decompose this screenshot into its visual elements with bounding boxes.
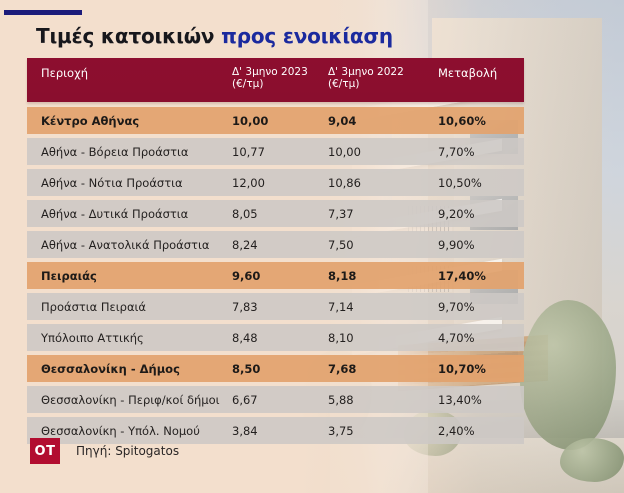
row-cell-q2023: 9,60	[232, 269, 328, 283]
row-cell-q2022: 3,75	[328, 424, 424, 438]
accent-rule	[4, 10, 82, 15]
table-row: Υπόλοιπο Αττικής8,488,104,70%	[27, 324, 524, 351]
row-cell-change: 10,50%	[424, 176, 524, 190]
page-title-plain: Τιμές κατοικιών	[36, 24, 221, 48]
table-row: Πειραιάς9,608,1817,40%	[27, 262, 524, 289]
row-cell-area: Υπόλοιπο Αττικής	[27, 331, 232, 345]
table-header-row: Περιοχή Δ' 3μηνο 2023 (€/τμ) Δ' 3μηνο 20…	[27, 58, 524, 102]
table-row: Κέντρο Αθήνας10,009,0410,60%	[27, 107, 524, 134]
row-cell-area: Αθήνα - Νότια Προάστια	[27, 176, 232, 190]
source-text: Πηγή: Spitogatos	[76, 444, 179, 458]
row-cell-change: 10,70%	[424, 362, 524, 376]
row-cell-area: Θεσσαλονίκη - Υπόλ. Νομού	[27, 424, 232, 438]
column-header-q2022: Δ' 3μηνο 2022 (€/τμ)	[328, 58, 424, 90]
table-body: Κέντρο Αθήνας10,009,0410,60%Αθήνα - Βόρε…	[27, 107, 524, 444]
row-cell-area: Κέντρο Αθήνας	[27, 114, 232, 128]
row-cell-q2022: 10,86	[328, 176, 424, 190]
ot-logo: OT	[30, 438, 60, 464]
column-header-change: Μεταβολή	[424, 58, 524, 80]
column-header-q2023-line2: (€/τμ)	[232, 78, 328, 90]
row-cell-q2023: 8,24	[232, 238, 328, 252]
row-cell-area: Προάστια Πειραιά	[27, 300, 232, 314]
row-cell-change: 7,70%	[424, 145, 524, 159]
row-cell-change: 9,70%	[424, 300, 524, 314]
row-cell-area: Θεσσαλονίκη - Περιφ/κοί δήμοι	[27, 393, 232, 407]
row-cell-change: 9,90%	[424, 238, 524, 252]
table-row: Αθήνα - Ανατολικά Προάστια8,247,509,90%	[27, 231, 524, 258]
row-cell-q2023: 8,05	[232, 207, 328, 221]
row-cell-q2023: 8,50	[232, 362, 328, 376]
table-row: Προάστια Πειραιά7,837,149,70%	[27, 293, 524, 320]
row-cell-q2022: 10,00	[328, 145, 424, 159]
row-cell-q2022: 8,10	[328, 331, 424, 345]
row-cell-q2023: 10,00	[232, 114, 328, 128]
row-cell-q2023: 8,48	[232, 331, 328, 345]
row-cell-area: Αθήνα - Δυτικά Προάστια	[27, 207, 232, 221]
row-cell-q2023: 7,83	[232, 300, 328, 314]
table-row: Αθήνα - Νότια Προάστια12,0010,8610,50%	[27, 169, 524, 196]
column-header-q2023-line1: Δ' 3μηνο 2023	[232, 66, 328, 78]
row-cell-q2023: 12,00	[232, 176, 328, 190]
prices-table: Περιοχή Δ' 3μηνο 2023 (€/τμ) Δ' 3μηνο 20…	[27, 58, 524, 448]
row-cell-q2023: 6,67	[232, 393, 328, 407]
row-cell-q2022: 7,68	[328, 362, 424, 376]
table-row: Αθήνα - Βόρεια Προάστια10,7710,007,70%	[27, 138, 524, 165]
source-attribution: OT Πηγή: Spitogatos	[30, 438, 179, 464]
row-cell-q2023: 3,84	[232, 424, 328, 438]
row-cell-q2022: 7,50	[328, 238, 424, 252]
column-header-q2022-line2: (€/τμ)	[328, 78, 424, 90]
row-cell-change: 2,40%	[424, 424, 524, 438]
page-title: Τιμές κατοικιών προς ενοικίαση	[36, 24, 393, 48]
column-header-q2022-line1: Δ' 3μηνο 2022	[328, 66, 424, 78]
row-cell-q2022: 8,18	[328, 269, 424, 283]
row-cell-q2023: 10,77	[232, 145, 328, 159]
content-layer: Τιμές κατοικιών προς ενοικίαση Περιοχή Δ…	[0, 0, 624, 493]
column-header-area: Περιοχή	[27, 58, 232, 80]
column-header-q2023: Δ' 3μηνο 2023 (€/τμ)	[232, 58, 328, 90]
row-cell-area: Αθήνα - Ανατολικά Προάστια	[27, 238, 232, 252]
row-cell-area: Θεσσαλονίκη - Δήμος	[27, 362, 232, 376]
table-row: Θεσσαλονίκη - Δήμος8,507,6810,70%	[27, 355, 524, 382]
page-title-highlight: προς ενοικίαση	[221, 24, 393, 48]
row-cell-q2022: 7,37	[328, 207, 424, 221]
row-cell-change: 17,40%	[424, 269, 524, 283]
infographic-root: Τιμές κατοικιών προς ενοικίαση Περιοχή Δ…	[0, 0, 624, 493]
table-row: Αθήνα - Δυτικά Προάστια8,057,379,20%	[27, 200, 524, 227]
row-cell-q2022: 7,14	[328, 300, 424, 314]
row-cell-change: 10,60%	[424, 114, 524, 128]
row-cell-q2022: 9,04	[328, 114, 424, 128]
row-cell-q2022: 5,88	[328, 393, 424, 407]
row-cell-change: 9,20%	[424, 207, 524, 221]
row-cell-change: 13,40%	[424, 393, 524, 407]
row-cell-change: 4,70%	[424, 331, 524, 345]
table-row: Θεσσαλονίκη - Περιφ/κοί δήμοι6,675,8813,…	[27, 386, 524, 413]
row-cell-area: Αθήνα - Βόρεια Προάστια	[27, 145, 232, 159]
row-cell-area: Πειραιάς	[27, 269, 232, 283]
